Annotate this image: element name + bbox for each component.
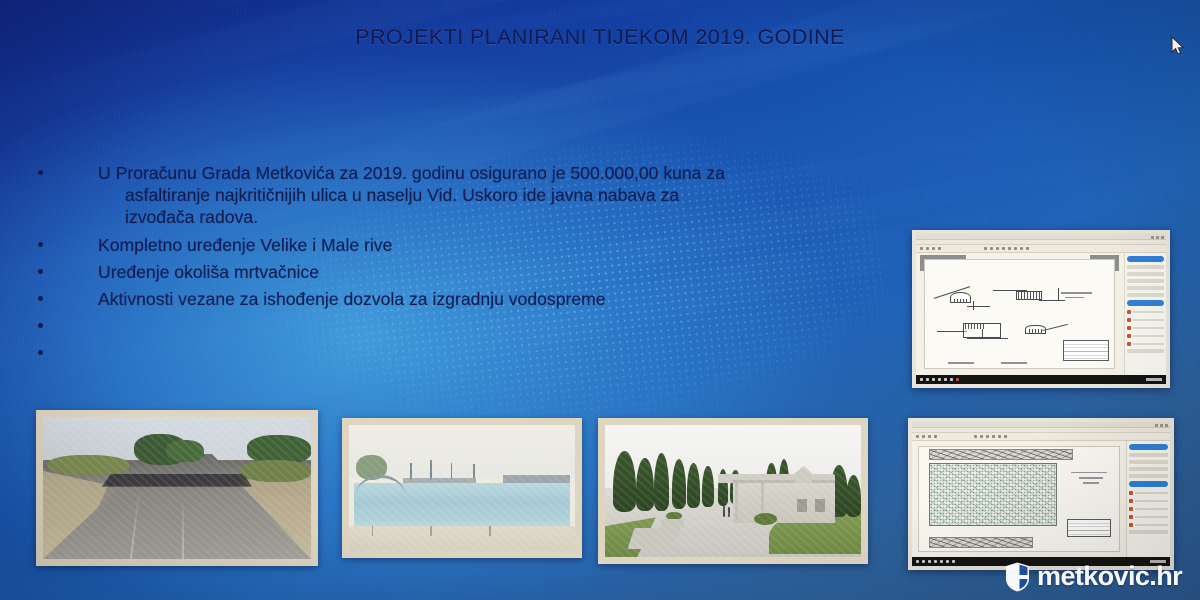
sidebar-list-item[interactable] (1129, 522, 1168, 527)
render-column (735, 483, 738, 523)
sidebar-list-item[interactable] (1129, 498, 1168, 503)
toolbar-icon[interactable] (922, 435, 925, 438)
list-bullet-icon (1129, 523, 1133, 527)
list-bullet-icon (1129, 507, 1133, 511)
bullet-text-1: U Proračunu Grada Metkovića za 2019. god… (98, 162, 910, 228)
taskbar-icon[interactable] (928, 560, 931, 563)
cad-drawing-screenshot (912, 230, 1170, 388)
toolbar-icon[interactable] (992, 435, 995, 438)
sidebar-list-item[interactable] (1129, 514, 1168, 519)
map-top-strip (929, 449, 1072, 461)
bullet-text-2: Kompletno uređenje Velike i Male rive (98, 235, 392, 255)
taskbar-icon[interactable] (934, 560, 937, 563)
sidebar-row[interactable] (1127, 272, 1165, 276)
render-window (797, 499, 807, 512)
taskbar-icon-active[interactable] (956, 378, 959, 381)
road-tree (166, 440, 204, 463)
road-bush (241, 460, 311, 483)
bullet-marker-icon (38, 323, 43, 328)
riva-pier (403, 478, 475, 483)
riva-bollard (489, 526, 491, 536)
riva-bollard (372, 526, 374, 536)
close-icon[interactable] (1165, 424, 1168, 427)
toolbar-icon[interactable] (932, 247, 935, 250)
sidebar-row[interactable] (1127, 279, 1165, 283)
sidebar-primary-button[interactable] (1127, 256, 1165, 262)
taskbar-icon[interactable] (922, 560, 925, 563)
render-figure (723, 506, 725, 518)
cad-viewer-window (916, 234, 1166, 384)
list-bullet-icon (1127, 310, 1131, 314)
cad-terrain-line (1039, 300, 1065, 301)
minimize-icon[interactable] (1155, 424, 1158, 427)
toolbar-icon[interactable] (928, 435, 931, 438)
sidebar-list-item[interactable] (1127, 317, 1165, 322)
list-bullet-icon (1129, 491, 1133, 495)
list-bullet-icon (1127, 334, 1131, 338)
map-annotation (1071, 472, 1107, 474)
render-bench (661, 519, 684, 528)
cad-annotation (1065, 297, 1084, 299)
taskbar-icon[interactable] (944, 378, 947, 381)
sidebar-list-item[interactable] (1129, 490, 1168, 495)
sidebar-row[interactable] (1129, 453, 1168, 457)
maximize-icon[interactable] (1156, 236, 1159, 239)
riva-rendering-photo (342, 418, 582, 558)
sidebar-row[interactable] (1127, 265, 1165, 269)
sidebar-row[interactable] (1129, 474, 1168, 478)
bullet-item-5 (30, 315, 910, 340)
cypress-tree (702, 466, 714, 507)
bullet-list: U Proračunu Grada Metkovića za 2019. god… (30, 162, 910, 369)
close-icon[interactable] (1161, 236, 1164, 239)
metkovic-watermark: metkovic.hr (1005, 561, 1182, 592)
toolbar-icon[interactable] (1026, 247, 1029, 250)
taskbar-clock (1146, 378, 1162, 381)
window-titlebar (916, 234, 1166, 240)
map-annotation (1079, 477, 1103, 479)
cadastral-map-screenshot (908, 418, 1174, 570)
map-sheet (918, 446, 1119, 553)
toolbar-icon[interactable] (1020, 247, 1023, 250)
toolbar-icon[interactable] (1014, 247, 1017, 250)
cad-stage (916, 253, 1166, 375)
taskbar-icon[interactable] (950, 378, 953, 381)
sidebar-action-button[interactable] (1127, 300, 1165, 306)
bullet-line: asfaltiranje najkritičnijih ulica u nase… (98, 184, 910, 206)
sidebar-list-item[interactable] (1127, 341, 1165, 346)
cad-canvas[interactable] (916, 253, 1124, 375)
window-titlebar (912, 422, 1170, 428)
watermark-text: metkovic.hr (1037, 561, 1182, 592)
cad-annotation (948, 362, 974, 364)
sidebar-list-item[interactable] (1129, 506, 1168, 511)
bullet-marker-icon (38, 269, 43, 274)
cypress-tree (672, 459, 686, 509)
map-stage (912, 441, 1170, 557)
toolbar-icon[interactable] (1004, 435, 1007, 438)
list-bullet-icon (1127, 326, 1131, 330)
toolbar-icon[interactable] (974, 435, 977, 438)
map-sidebar-panel[interactable] (1126, 441, 1170, 557)
bullet-item-3: Uređenje okoliša mrtvačnice (30, 261, 910, 283)
cypress-tree (636, 458, 654, 511)
toolbar-icon[interactable] (1008, 247, 1011, 250)
render-figure (728, 507, 730, 518)
cad-title-block (1063, 340, 1108, 362)
bullet-marker-icon (38, 170, 43, 175)
toolbar-icon[interactable] (990, 247, 993, 250)
sidebar-list-item[interactable] (1127, 325, 1165, 330)
maximize-icon[interactable] (1160, 424, 1163, 427)
bullet-text-4: Aktivnosti vezane za ishođenje dozvola z… (98, 289, 606, 309)
map-viewer-window (912, 422, 1170, 566)
bullet-line: izvođača radova. (98, 206, 910, 228)
bullet-item-4: Aktivnosti vezane za ishođenje dozvola z… (30, 288, 910, 310)
sidebar-row[interactable] (1127, 293, 1165, 297)
taskbar-start-icon[interactable] (916, 560, 919, 563)
toolbar-icon[interactable] (998, 435, 1001, 438)
road-bush (48, 455, 128, 475)
mortuary-rendering-image (605, 425, 861, 557)
render-window (815, 499, 825, 512)
cad-sheet (924, 259, 1115, 369)
mortuary-rendering-photo (598, 418, 868, 564)
cad-dimension-line (973, 301, 974, 310)
toolbar-icon[interactable] (980, 435, 983, 438)
toolbar-icon[interactable] (926, 247, 929, 250)
window-toolbar[interactable] (916, 245, 1166, 253)
cad-sidebar-panel[interactable] (1124, 253, 1167, 375)
sidebar-list-item[interactable] (1127, 309, 1165, 314)
bullet-item-2: Kompletno uređenje Velike i Male rive (30, 234, 910, 256)
riva-quay (349, 526, 575, 551)
taskbar-icon[interactable] (946, 560, 949, 563)
asphalt-road-photo (36, 410, 318, 566)
sidebar-row[interactable] (1129, 460, 1168, 464)
slide-title: PROJEKTI PLANIRANI TIJEKOM 2019. GODINE (0, 25, 1200, 50)
road-marking (182, 497, 184, 559)
taskbar-icon[interactable] (932, 378, 935, 381)
cad-annotation (1001, 362, 1027, 364)
taskbar-start-icon[interactable] (920, 378, 923, 381)
cad-dimension-line (1058, 288, 1059, 301)
sidebar-list-item[interactable] (1127, 333, 1165, 338)
toolbar-icon[interactable] (934, 435, 937, 438)
bullet-marker-icon (38, 350, 43, 355)
riva-bollard (430, 526, 432, 536)
taskbar-icon[interactable] (938, 378, 941, 381)
map-title-block (1067, 519, 1111, 537)
toolbar-icon[interactable] (916, 435, 919, 438)
riva-bridge-deck (503, 475, 571, 483)
list-bullet-icon (1129, 515, 1133, 519)
cypress-tree (687, 463, 700, 508)
shield-icon (1005, 562, 1030, 592)
cad-hatch-fill (954, 299, 967, 303)
road-asphalt-patch (102, 474, 252, 487)
mouse-pointer-icon (1171, 36, 1185, 56)
cad-annotation (1061, 292, 1091, 294)
cypress-tree (613, 451, 636, 512)
cad-hatch-fill (1018, 292, 1041, 298)
taskbar-icon[interactable] (926, 378, 929, 381)
map-bottom-strip (929, 537, 1033, 549)
taskbar-icon[interactable] (940, 560, 943, 563)
os-taskbar[interactable] (916, 375, 1166, 384)
riva-rendering-image (349, 425, 575, 551)
sidebar-row[interactable] (1129, 530, 1168, 534)
sidebar-primary-button[interactable] (1129, 444, 1168, 450)
map-cadastral-plot (929, 463, 1057, 526)
render-bench (627, 528, 680, 549)
map-canvas[interactable] (912, 441, 1126, 557)
sidebar-row[interactable] (1127, 349, 1165, 353)
cad-terrain-line (967, 338, 1009, 339)
sidebar-action-button[interactable] (1129, 481, 1168, 487)
sidebar-row[interactable] (1127, 286, 1165, 290)
toolbar-icon[interactable] (986, 435, 989, 438)
bullet-marker-icon (38, 296, 43, 301)
minimize-icon[interactable] (1151, 236, 1154, 239)
list-bullet-icon (1127, 342, 1131, 346)
cad-terrain-line (967, 306, 990, 307)
toolbar-icon[interactable] (984, 247, 987, 250)
list-bullet-icon (1129, 499, 1133, 503)
toolbar-icon[interactable] (996, 247, 999, 250)
bullet-line: U Proračunu Grada Metkovića za 2019. god… (98, 162, 910, 184)
cad-hatch-fill (1029, 329, 1042, 333)
cypress-tree (846, 475, 861, 517)
toolbar-icon[interactable] (1002, 247, 1005, 250)
sidebar-row[interactable] (1129, 467, 1168, 471)
toolbar-icon[interactable] (920, 247, 923, 250)
presentation-slide: PROJEKTI PLANIRANI TIJEKOM 2019. GODINE … (0, 0, 1200, 600)
asphalt-road-image (43, 417, 311, 559)
bullet-marker-icon (38, 242, 43, 247)
bullet-item-6 (30, 342, 910, 367)
taskbar-icon[interactable] (952, 560, 955, 563)
bullet-text-3: Uređenje okoliša mrtvačnice (98, 262, 319, 282)
cad-terrain-line (1043, 324, 1069, 331)
list-bullet-icon (1127, 318, 1131, 322)
window-toolbar[interactable] (912, 433, 1170, 441)
bullet-item-1: U Proračunu Grada Metkovića za 2019. god… (30, 162, 910, 228)
toolbar-icon[interactable] (938, 247, 941, 250)
map-annotation (1083, 482, 1099, 484)
riva-mast (473, 464, 475, 479)
